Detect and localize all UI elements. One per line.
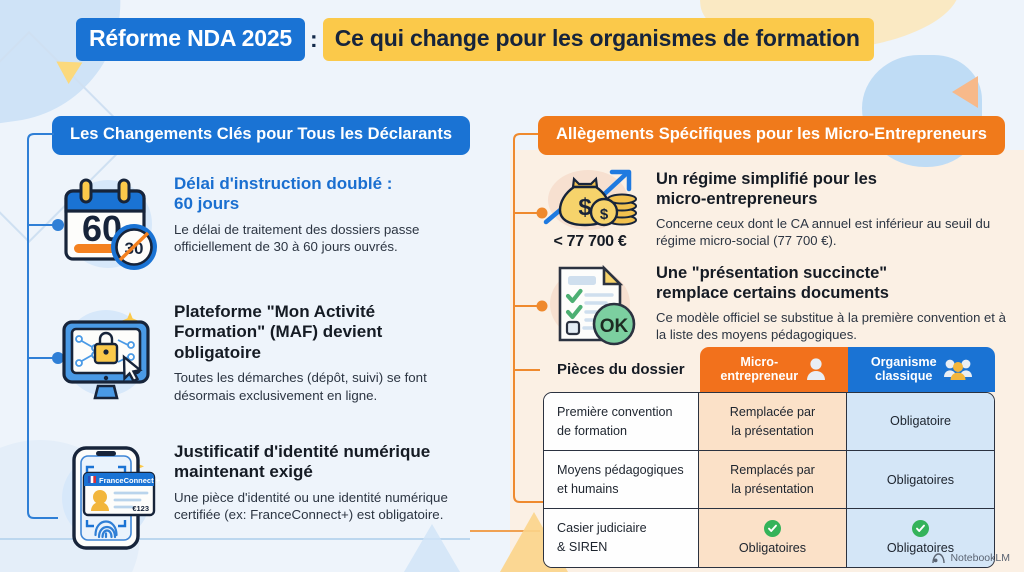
title-line-1: Délai d'instruction doublé : bbox=[174, 174, 392, 193]
table-column-header-classic: Organisme classique bbox=[848, 347, 996, 392]
title-line-2: remplace certains documents bbox=[656, 284, 889, 302]
right-item-presentation-title: Une "présentation succincte" remplace ce… bbox=[656, 264, 1006, 304]
decorative-triangle-yellow bbox=[56, 62, 83, 85]
table-header-label: Pièces du dossier bbox=[543, 347, 700, 392]
table-column-header-micro-label: Micro- entrepreneur bbox=[720, 355, 798, 384]
check-circle-icon bbox=[764, 520, 781, 537]
section-header-right: Allègements Spécifiques pour les Micro-E… bbox=[538, 116, 1005, 155]
title-separator: : bbox=[305, 18, 323, 61]
title-line-2: maintenant exigé bbox=[174, 462, 313, 481]
cell-line-1: Casier judiciaire bbox=[557, 520, 647, 536]
svg-text:FranceConnect +: FranceConnect + bbox=[99, 476, 160, 485]
left-item-maf-title: Plateforme "Mon Activité Formation" (MAF… bbox=[174, 302, 482, 363]
right-item-regime-title: Un régime simplifié pour les micro-entre… bbox=[656, 170, 1006, 210]
title-line-1: Justificatif d'identité numérique bbox=[174, 442, 430, 461]
svg-text:OK: OK bbox=[600, 316, 629, 337]
check-circle-icon bbox=[912, 520, 929, 537]
watermark-label: NotebookLM bbox=[950, 552, 1010, 564]
cell-line-2: de formation bbox=[557, 423, 627, 439]
cell-line-1: Remplacés par bbox=[730, 462, 815, 478]
group-people-icon bbox=[944, 357, 972, 381]
table-row: Première convention de formation Remplac… bbox=[544, 393, 994, 451]
cell-line-2: & SIREN bbox=[557, 539, 607, 555]
left-item-deadline: 60 30 Délai d'instruction doublé : 60 jo… bbox=[52, 172, 482, 276]
left-item-maf-body: Toutes les démarches (dépôt, suivi) se f… bbox=[174, 369, 482, 404]
table-cell-name: Première convention de formation bbox=[544, 393, 699, 450]
infographic-canvas: Réforme NDA 2025 : Ce qui change pour le… bbox=[0, 0, 1024, 572]
cell-line-1: Obligatoires bbox=[739, 540, 806, 556]
title-line-2: 60 jours bbox=[174, 194, 239, 213]
left-item-identity-title: Justificatif d'identité numérique mainte… bbox=[174, 442, 482, 483]
cell-line-1: Remplacée par bbox=[730, 404, 815, 420]
label-line-2: entrepreneur bbox=[720, 369, 798, 383]
table-body: Première convention de formation Remplac… bbox=[543, 392, 995, 569]
left-item-maf-text: Plateforme "Mon Activité Formation" (MAF… bbox=[174, 300, 482, 404]
label-line-1: Organisme bbox=[871, 355, 937, 369]
right-item-succinct-presentation: OK Une "présentation succincte" remplace… bbox=[536, 262, 1006, 346]
smartphone-digital-id-icon: FranceConnect + €123 bbox=[52, 440, 160, 552]
right-item-presentation-text: Une "présentation succincte" remplace ce… bbox=[656, 262, 1006, 343]
left-item-deadline-title: Délai d'instruction doublé : 60 jours bbox=[174, 174, 482, 215]
title-line-2: micro-entrepreneurs bbox=[656, 190, 817, 208]
right-item-presentation-icon-block: OK bbox=[536, 262, 644, 346]
calendar-60-days-icon: 60 30 bbox=[52, 172, 160, 276]
title-badge: Réforme NDA 2025 bbox=[76, 18, 305, 61]
title-subtitle: Ce qui change pour les organismes de for… bbox=[323, 18, 874, 61]
page-title: Réforme NDA 2025 : Ce qui change pour le… bbox=[76, 18, 874, 61]
label-line-2: classique bbox=[875, 369, 932, 383]
left-item-maf-platform: Plateforme "Mon Activité Formation" (MAF… bbox=[52, 300, 482, 406]
single-person-icon bbox=[805, 357, 827, 381]
title-line-1: Un régime simplifié pour les bbox=[656, 170, 877, 188]
left-item-identity-text: Justificatif d'identité numérique mainte… bbox=[174, 440, 482, 524]
table-row: Casier judiciaire & SIREN Obligatoires bbox=[544, 509, 994, 567]
svg-text:€123: €123 bbox=[132, 504, 149, 513]
table-column-header-classic-label: Organisme classique bbox=[871, 355, 937, 384]
left-item-deadline-text: Délai d'instruction doublé : 60 jours Le… bbox=[174, 172, 482, 256]
cell-line-1: Moyens pédagogiques bbox=[557, 462, 684, 478]
table-cell-micro: Remplacée par la présentation bbox=[699, 393, 847, 450]
right-item-regime-body: Concerne ceux dont le CA annuel est infé… bbox=[656, 215, 1006, 250]
cell-line-2: et humains bbox=[557, 481, 619, 497]
secure-computer-lock-icon bbox=[52, 300, 160, 406]
left-item-deadline-body: Le délai de traitement des dossiers pass… bbox=[174, 221, 482, 256]
cell-line-2: la présentation bbox=[731, 481, 814, 497]
right-item-regime-icon-block: $ $ < 77 700 € bbox=[536, 166, 644, 251]
money-threshold-caption: < 77 700 € bbox=[553, 233, 626, 251]
left-item-digital-identity: FranceConnect + €123 Justific bbox=[52, 440, 482, 552]
money-bag-growth-icon: $ $ bbox=[538, 166, 642, 232]
table-column-header-micro: Micro- entrepreneur bbox=[700, 347, 848, 392]
title-line-1: Une "présentation succincte" bbox=[656, 264, 887, 282]
cell-line-2: la présentation bbox=[731, 423, 814, 439]
decorative-triangle-orange bbox=[952, 76, 978, 108]
table-header-row: Pièces du dossier Micro- entrepreneur Or… bbox=[543, 347, 995, 392]
checklist-document-ok-icon: OK bbox=[538, 262, 642, 346]
right-item-simplified-regime: $ $ < 77 700 € Un régime simplifié pour … bbox=[536, 166, 1006, 251]
table-cell-classic: Obligatoire bbox=[847, 393, 994, 450]
section-header-left: Les Changements Clés pour Tous les Décla… bbox=[52, 116, 470, 155]
cell-line-1: Première convention bbox=[557, 404, 673, 420]
title-line-2: Formation" (MAF) devient bbox=[174, 322, 382, 341]
table-cell-micro: Remplacés par la présentation bbox=[699, 451, 847, 508]
cell-line-1: Obligatoire bbox=[890, 413, 951, 429]
notebooklm-logo-icon bbox=[932, 553, 945, 564]
svg-text:$: $ bbox=[600, 206, 609, 223]
table-cell-classic: Obligatoires bbox=[847, 451, 994, 508]
table-cell-micro: Obligatoires bbox=[699, 509, 847, 567]
right-item-regime-text: Un régime simplifié pour les micro-entre… bbox=[656, 166, 1006, 249]
comparison-table: Pièces du dossier Micro- entrepreneur Or… bbox=[543, 347, 995, 568]
cell-line-1: Obligatoires bbox=[887, 472, 954, 488]
svg-text:$: $ bbox=[578, 194, 592, 221]
title-line-3: obligatoire bbox=[174, 343, 261, 362]
right-item-presentation-body: Ce modèle officiel se substitue à la pre… bbox=[656, 309, 1006, 344]
table-row: Moyens pédagogiques et humains Remplacés… bbox=[544, 451, 994, 509]
title-line-1: Plateforme "Mon Activité bbox=[174, 302, 375, 321]
left-item-identity-body: Une pièce d'identité ou une identité num… bbox=[174, 489, 482, 524]
label-line-1: Micro- bbox=[740, 355, 778, 369]
watermark: NotebookLM bbox=[932, 552, 1010, 564]
table-cell-name: Moyens pédagogiques et humains bbox=[544, 451, 699, 508]
table-cell-name: Casier judiciaire & SIREN bbox=[544, 509, 699, 567]
